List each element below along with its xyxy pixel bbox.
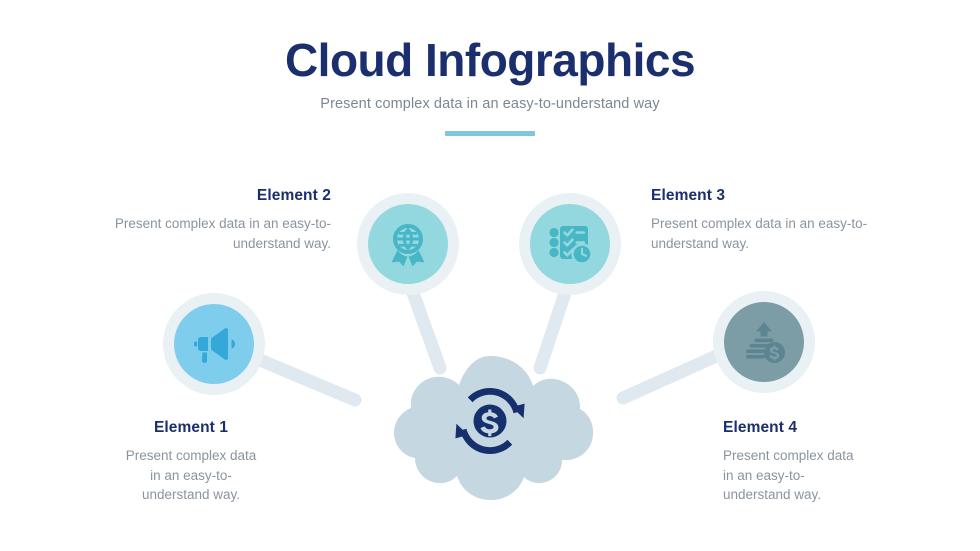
- checklist-clock-icon: [547, 221, 593, 267]
- element-3-body: Present complex data in an easy-to-under…: [651, 214, 881, 253]
- element-4-body: Present complex data in an easy-to-under…: [723, 446, 859, 505]
- element-4-title: Element 4: [723, 419, 859, 437]
- diagram-stage: Element 2 Present complex data in an eas…: [0, 0, 980, 551]
- connector-element-1: [248, 355, 355, 400]
- node-element-2[interactable]: [357, 193, 459, 295]
- element-3-title: Element 3: [651, 187, 881, 205]
- element-1-title: Element 1: [124, 419, 258, 437]
- text-block-element-4: Element 4 Present complex data in an eas…: [723, 419, 859, 505]
- node-element-2-circle: [368, 204, 448, 284]
- node-element-3[interactable]: [519, 193, 621, 295]
- node-element-3-circle: [530, 204, 610, 284]
- node-element-1-circle: [174, 304, 254, 384]
- infographic-slide: Cloud Infographics Present complex data …: [0, 0, 980, 551]
- connector-element-4: [623, 353, 723, 398]
- element-2-title: Element 2: [103, 187, 331, 205]
- node-element-4[interactable]: [713, 291, 815, 393]
- element-2-body: Present complex data in an easy-to-under…: [103, 214, 331, 253]
- text-block-element-3: Element 3 Present complex data in an eas…: [651, 187, 881, 253]
- money-refresh-cycle-icon: [450, 381, 530, 461]
- node-element-1[interactable]: [163, 293, 265, 395]
- node-element-4-circle: [724, 302, 804, 382]
- globe-award-ribbon-icon: [385, 221, 431, 267]
- megaphone-icon: [191, 321, 237, 367]
- text-block-element-1: Element 1 Present complex data in an eas…: [124, 419, 258, 505]
- coin-stack-growth-icon: [741, 319, 787, 365]
- element-1-body: Present complex data in an easy-to-under…: [124, 446, 258, 505]
- text-block-element-2: Element 2 Present complex data in an eas…: [103, 187, 331, 253]
